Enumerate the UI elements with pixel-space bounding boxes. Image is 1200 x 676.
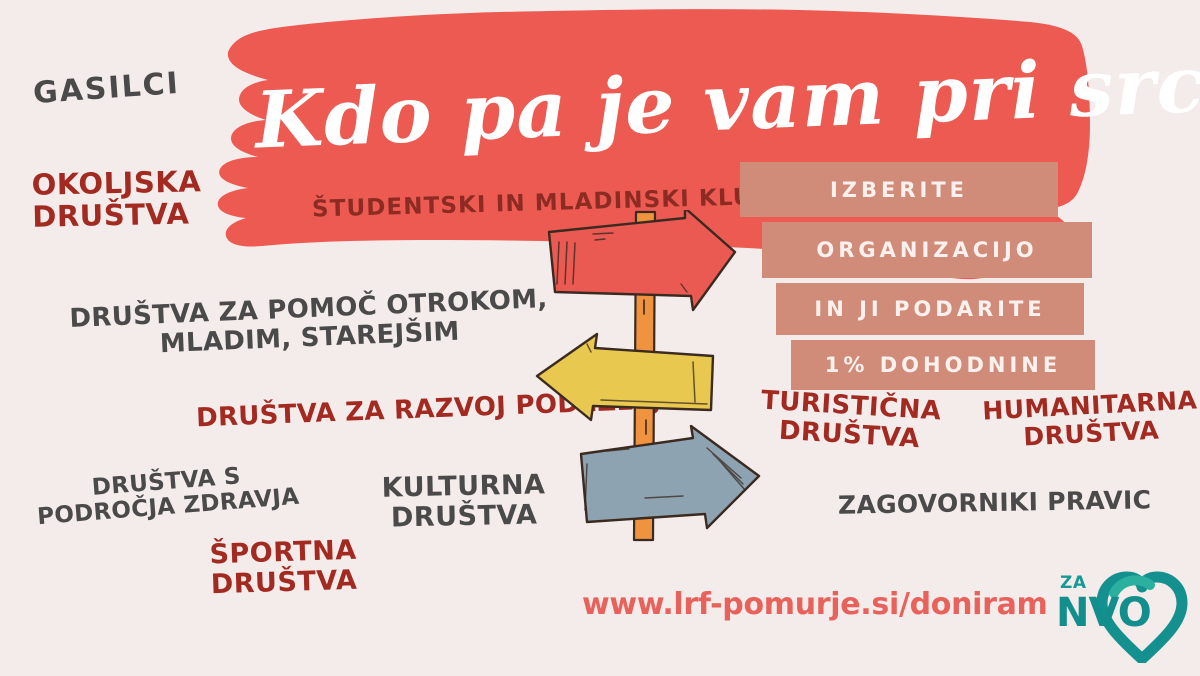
logo-text-nvo: NVO [1056, 590, 1151, 636]
org-label-okoljska-drustva: OKOLJSKA DRUŠTVA [31, 166, 202, 233]
cta-bar-izberite: IZBERITE [740, 162, 1058, 217]
org-label-zagovorniki-pravic: ZAGOVORNIKI PRAVIC [838, 486, 1152, 519]
arrow-right-blue [581, 426, 759, 528]
org-label-pomoc-otrokom: DRUŠTVA ZA POMOČ OTROKOM, MLADIM, STAREJ… [69, 285, 549, 362]
arrow-right-red [549, 210, 735, 310]
za-nvo-logo: ZA NVO [1052, 565, 1192, 665]
poster-canvas: Kdo pa je vam pri srcu? ŠTUDENTSKI IN ML… [0, 0, 1200, 676]
arrow-left-yellow [537, 334, 713, 420]
org-label-humanitarna-drustva: HUMANITARNA DRUŠTVA [982, 386, 1200, 452]
org-label-gasilci: GASILCI [32, 67, 181, 110]
website-url[interactable]: www.lrf-pomurje.si/doniram [582, 587, 1048, 622]
page-title: Kdo pa je vam pri srcu? [253, 36, 1067, 177]
org-label-kulturna-drustva: KULTURNA DRUŠTVA [381, 470, 546, 533]
org-label-podrocja-zdravja: DRUŠTVA S PODROČJA ZDRAVJA [34, 460, 300, 531]
cta-bar-organizacijo: ORGANIZACIJO [762, 222, 1092, 278]
cta-bar-dohodnine: 1% DOHODNINE [791, 340, 1095, 390]
cta-bar-podarite: IN JI PODARITE [776, 283, 1084, 335]
signpost-illustration [535, 210, 795, 550]
org-label-sportna-drustva: ŠPORTNA DRUŠTVA [209, 536, 358, 600]
